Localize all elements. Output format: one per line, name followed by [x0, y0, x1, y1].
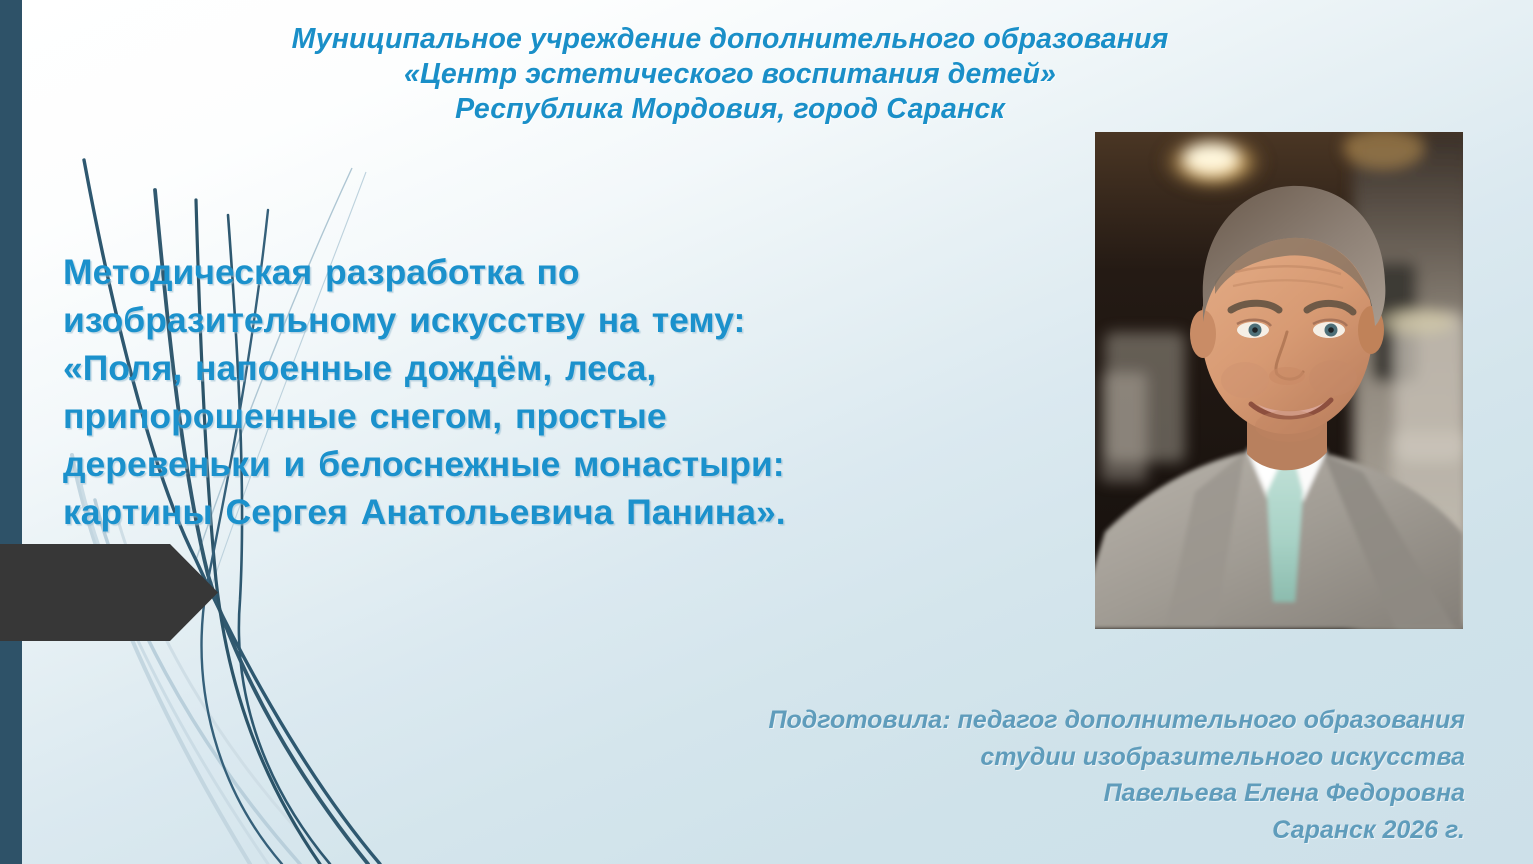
header-line-2: «Центр эстетического воспитания детей» [180, 57, 1280, 92]
arrow-banner-shape [0, 544, 218, 641]
credits-line-4: Саранск 2026 г. [605, 812, 1465, 849]
title-line-4: припорошенные снегом, простые [63, 392, 993, 440]
title-line-6: картины Сергея Анатольевича Панина». [63, 488, 993, 536]
credits-line-3: Павельева Елена Федоровна [605, 775, 1465, 812]
title-line-5: деревеньки и белоснежные монастыри: [63, 440, 993, 488]
author-credits: Подготовила: педагог дополнительного обр… [605, 702, 1465, 848]
credits-line-2: студии изобразительного искусства [605, 739, 1465, 776]
title-line-2: изобразительному искусству на тему: [63, 296, 993, 344]
presentation-slide: Муниципальное учреждение дополнительного… [0, 0, 1533, 864]
credits-line-1: Подготовила: педагог дополнительного обр… [605, 702, 1465, 739]
header-line-1: Муниципальное учреждение дополнительного… [180, 22, 1280, 57]
institution-header: Муниципальное учреждение дополнительного… [180, 22, 1280, 127]
left-accent-bar [0, 0, 22, 864]
portrait-image [1095, 132, 1463, 629]
portrait-photo [1095, 132, 1463, 629]
page-title: Методическая разработка по изобразительн… [63, 248, 993, 536]
header-line-3: Республика Мордовия, город Саранск [180, 92, 1280, 127]
title-line-1: Методическая разработка по [63, 248, 993, 296]
title-line-3: «Поля, напоенные дождём, леса, [63, 344, 993, 392]
